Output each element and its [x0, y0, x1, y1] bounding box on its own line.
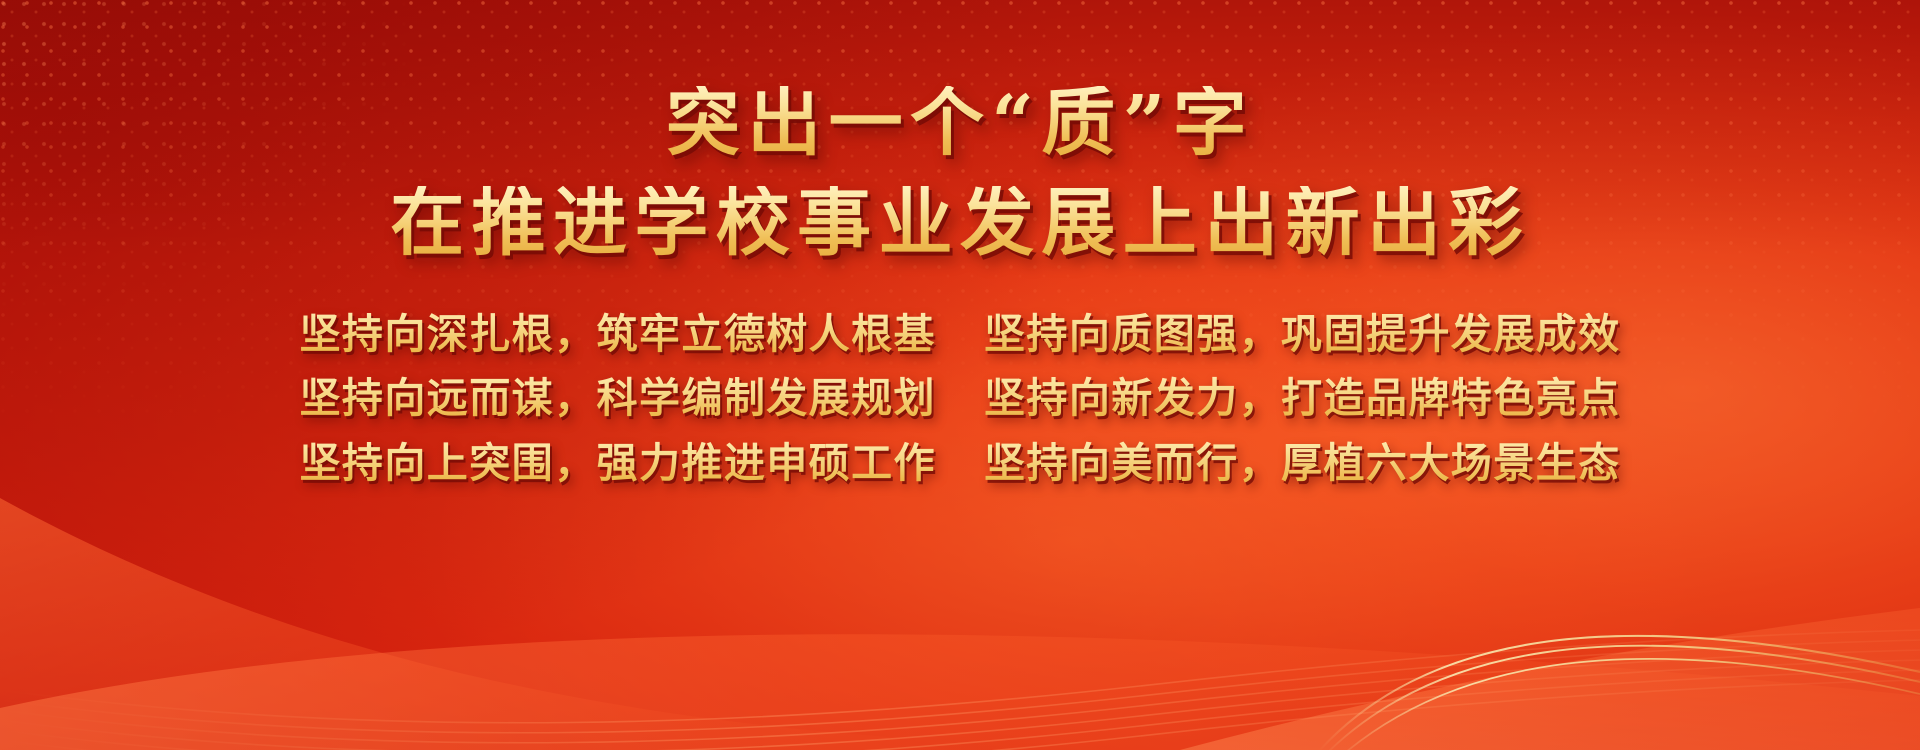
banner-title-line-2: 在推进学校事业发展上出新出彩: [390, 186, 1530, 260]
banner-content: 突出一个“质”字 在推进学校事业发展上出新出彩 坚持向深扎根，筑牢立德树人根基 …: [0, 0, 1920, 750]
slogan-grid: 坚持向深扎根，筑牢立德树人根基 坚持向质图强，巩固提升发展成效 坚持向远而谋，科…: [299, 308, 1620, 489]
slogan-row-2-left: 坚持向远而谋，科学编制发展规划: [299, 372, 936, 424]
slogan-row-1-right: 坚持向质图强，巩固提升发展成效: [984, 308, 1621, 360]
slogan-row-3-right: 坚持向美而行，厚植六大场景生态: [984, 437, 1621, 489]
slogan-row-2-right: 坚持向新发力，打造品牌特色亮点: [984, 372, 1621, 424]
slogan-row-3-left: 坚持向上突围，强力推进申硕工作: [299, 437, 936, 489]
banner-title-line-1: 突出一个“质”字: [666, 86, 1254, 160]
promotional-banner: 突出一个“质”字 在推进学校事业发展上出新出彩 坚持向深扎根，筑牢立德树人根基 …: [0, 0, 1920, 750]
slogan-row-1-left: 坚持向深扎根，筑牢立德树人根基: [299, 308, 936, 360]
